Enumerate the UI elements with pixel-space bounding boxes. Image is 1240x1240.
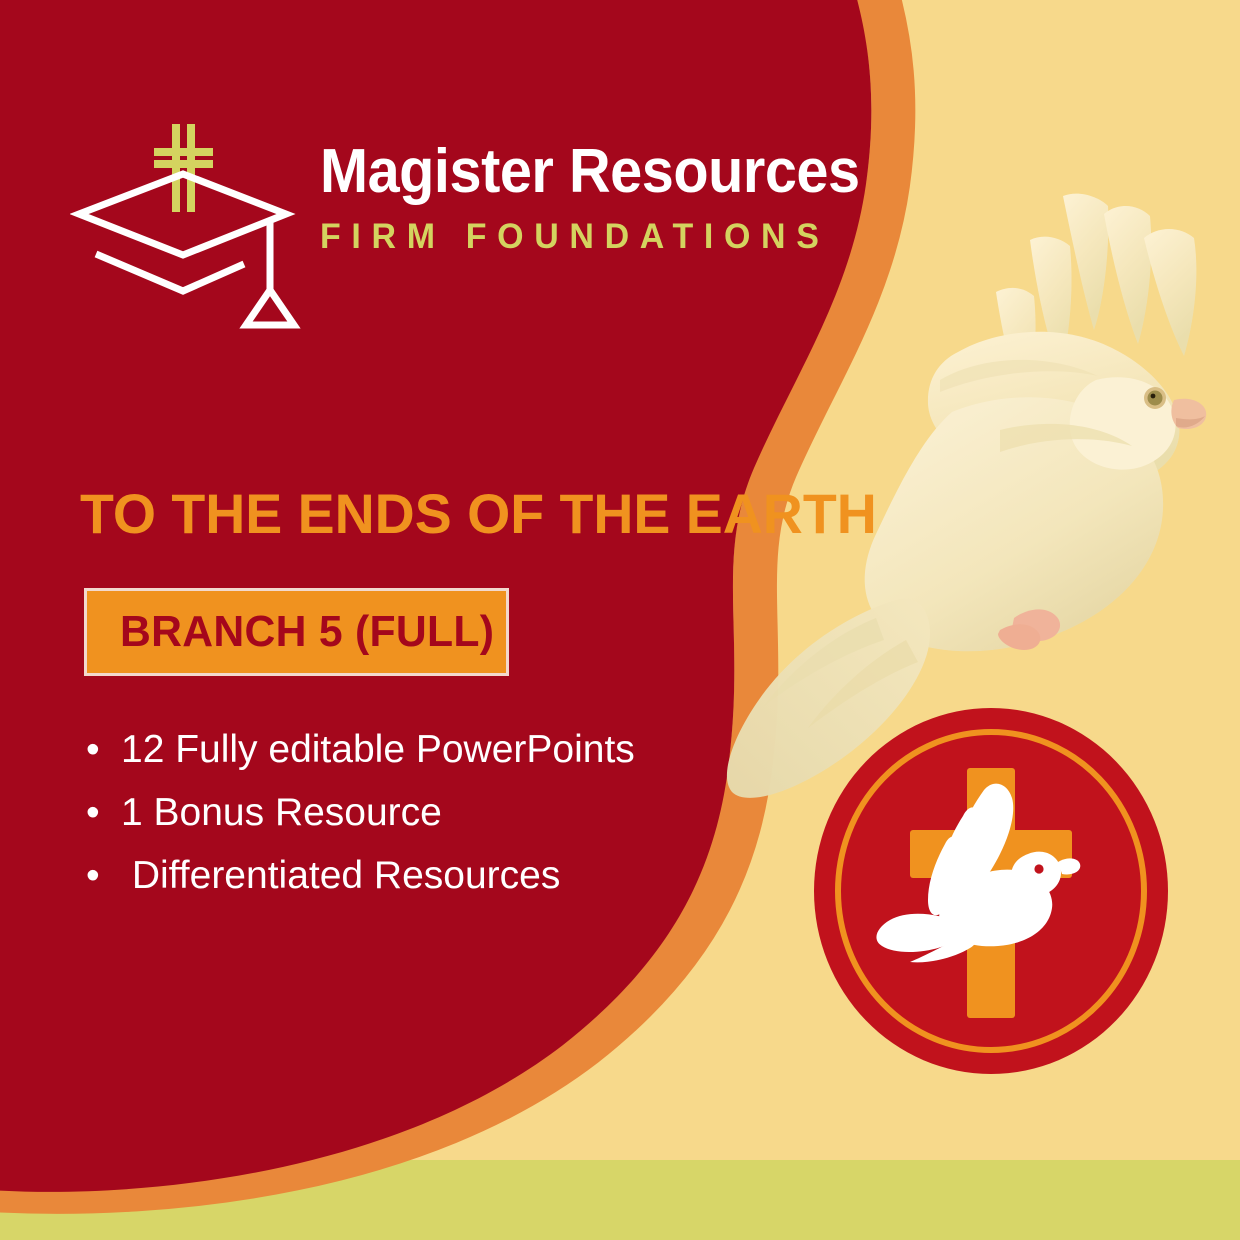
page-title: TO THE ENDS OF THE EARTH (80, 486, 877, 542)
status-badge: BRANCH 5 (FULL) (84, 588, 509, 676)
graduation-cap-with-cross-icon (70, 112, 305, 347)
dove-over-cross-emblem-icon (812, 706, 1170, 1076)
bullet-icon: • (78, 856, 121, 895)
list-item-label: Differentiated Resources (121, 856, 560, 895)
list-item: • 12 Fully editable PowerPoints (78, 730, 635, 769)
bullet-icon: • (78, 730, 121, 769)
feature-list: • 12 Fully editable PowerPoints • 1 Bonu… (78, 730, 635, 919)
promo-poster: Magister Resources FIRM FOUNDATIONS TO T… (0, 0, 1240, 1240)
brand-logo-block: Magister Resources FIRM FOUNDATIONS (70, 112, 890, 352)
list-item-label: 12 Fully editable PowerPoints (121, 730, 635, 769)
list-item-label: 1 Bonus Resource (121, 793, 442, 832)
brand-name: Magister Resources (320, 140, 915, 203)
bullet-icon: • (78, 793, 121, 832)
brand-tagline: FIRM FOUNDATIONS (320, 217, 941, 257)
brand-text: Magister Resources FIRM FOUNDATIONS (320, 140, 960, 257)
list-item: • 1 Bonus Resource (78, 793, 635, 832)
dove-eye (1034, 864, 1043, 873)
badge-label: BRANCH 5 (FULL) (120, 607, 494, 657)
list-item: • Differentiated Resources (78, 856, 635, 895)
